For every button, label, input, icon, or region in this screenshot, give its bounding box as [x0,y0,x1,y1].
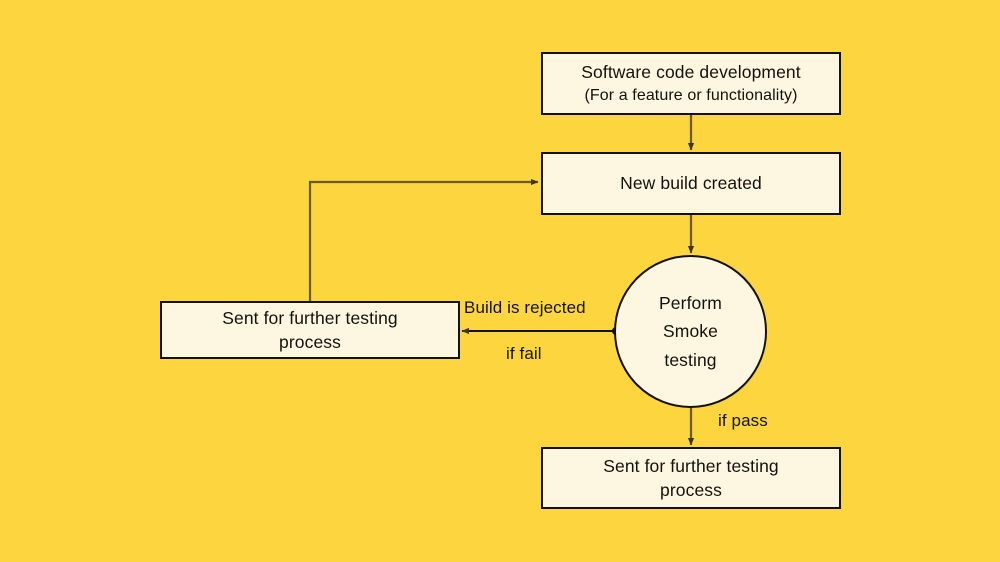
flowchart-connectors [0,0,1000,562]
node-sent-for-further-testing-bottom-line1: Sent for further testing [603,454,779,478]
node-sent-for-further-testing-bottom-line2: process [660,478,722,502]
edge-label-if-fail: if fail [506,344,542,364]
node-sent-for-further-testing-left-line1: Sent for further testing [222,306,398,330]
node-perform-smoke-testing-line1: Perform [659,289,722,317]
edge-left-box-to-build-loop [310,182,538,301]
node-software-code-development[interactable]: Software code development (For a feature… [541,52,841,115]
flowchart-canvas: Software code development (For a feature… [0,0,1000,562]
node-sent-for-further-testing-left[interactable]: Sent for further testing process [160,301,460,359]
edge-label-build-is-rejected: Build is rejected [464,298,586,318]
node-perform-smoke-testing-line2: Smoke [663,317,718,345]
node-sent-for-further-testing-bottom[interactable]: Sent for further testing process [541,447,841,509]
node-sent-for-further-testing-left-line2: process [279,330,341,354]
node-perform-smoke-testing[interactable]: Perform Smoke testing [614,255,767,408]
node-software-code-development-line2: (For a feature or functionality) [584,85,797,107]
node-software-code-development-line1: Software code development [581,60,800,84]
node-new-build-created-line1: New build created [620,171,762,195]
node-new-build-created[interactable]: New build created [541,152,841,215]
edge-label-if-pass: if pass [718,411,768,431]
node-perform-smoke-testing-line3: testing [664,346,716,374]
